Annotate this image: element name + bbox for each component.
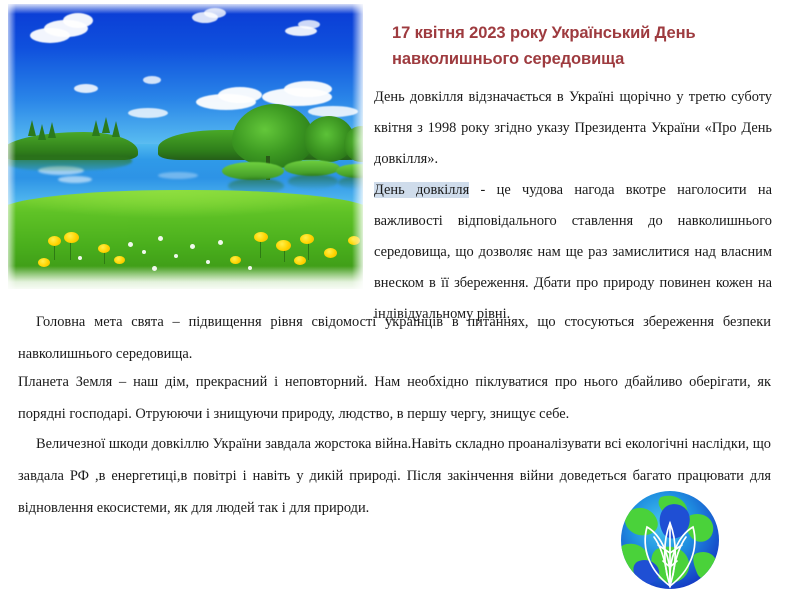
paragraph-planet: Планета Земля – наш дім, прекрасний і не…	[18, 366, 771, 430]
dandelion-flower	[254, 232, 268, 242]
dandelion-flower	[276, 240, 291, 251]
dandelion-flower	[114, 256, 125, 264]
dandelion-flower	[348, 236, 360, 245]
nature-landscape-image	[0, 0, 368, 300]
daisy-flower	[218, 240, 223, 245]
daisy-flower	[190, 244, 195, 249]
conifer-tree-icon	[38, 124, 46, 140]
cloud-icon	[143, 76, 161, 84]
cloud-icon	[74, 84, 98, 93]
daisy-flower	[174, 254, 178, 258]
daisy-flower	[158, 236, 163, 241]
conifer-tree-icon	[112, 121, 120, 137]
page-title-line-2: навколишнього середовища	[392, 50, 624, 68]
document-page: 17 квітня 2023 року Український День нав…	[0, 0, 795, 596]
intro-sentence-one: День довкілля відзначається в Україні що…	[374, 89, 772, 167]
paragraph-planet-text: Планета Земля – наш дім, прекрасний і не…	[18, 374, 771, 422]
paragraph-goal-text: Головна мета свята – підвищення рівня св…	[18, 314, 771, 362]
eco-globe-leaves-logo	[617, 487, 723, 593]
dandelion-flower	[98, 244, 110, 253]
large-tree	[232, 104, 314, 168]
dandelion-flower	[230, 256, 241, 264]
daisy-flower	[78, 256, 82, 260]
conifer-tree-icon	[48, 122, 56, 138]
cloud-icon	[63, 13, 93, 28]
page-title: 17 квітня 2023 року Український День нав…	[392, 20, 772, 72]
dandelion-flower	[294, 256, 306, 265]
intro-sentence-two: - це чудова нагода вкотре наголосити на …	[374, 182, 772, 322]
paragraph-intro: День довкілля відзначається в Україні що…	[374, 82, 772, 330]
daisy-flower	[152, 266, 157, 271]
dandelion-flower	[48, 236, 61, 246]
conifer-tree-icon	[92, 120, 100, 136]
daisy-flower	[128, 242, 133, 247]
cloud-icon	[204, 8, 226, 18]
dandelion-flower	[324, 248, 337, 258]
cloud-icon	[284, 81, 332, 97]
daisy-flower	[142, 250, 146, 254]
dandelion-flower	[38, 258, 50, 267]
header-text-column: 17 квітня 2023 року Український День нав…	[374, 20, 772, 330]
conifer-tree-icon	[102, 117, 110, 133]
cloud-icon	[218, 87, 262, 103]
water-reflection	[58, 176, 92, 183]
paragraph-goal: Головна мета свята – підвищення рівня св…	[18, 306, 771, 370]
highlighted-term: День довкілля	[374, 182, 469, 198]
islet-reflection	[288, 174, 338, 189]
daisy-flower	[206, 260, 210, 264]
cloud-icon	[30, 28, 70, 43]
page-title-line-1: 17 квітня 2023 року Український День	[392, 24, 696, 42]
dandelion-flower	[64, 232, 79, 243]
daisy-flower	[248, 266, 252, 270]
conifer-tree-icon	[28, 120, 36, 136]
landscape-photo-canvas	[8, 4, 363, 289]
dandelion-flower	[300, 234, 314, 244]
water-reflection	[158, 172, 198, 179]
cloud-icon	[298, 20, 320, 29]
cloud-icon	[128, 108, 168, 118]
